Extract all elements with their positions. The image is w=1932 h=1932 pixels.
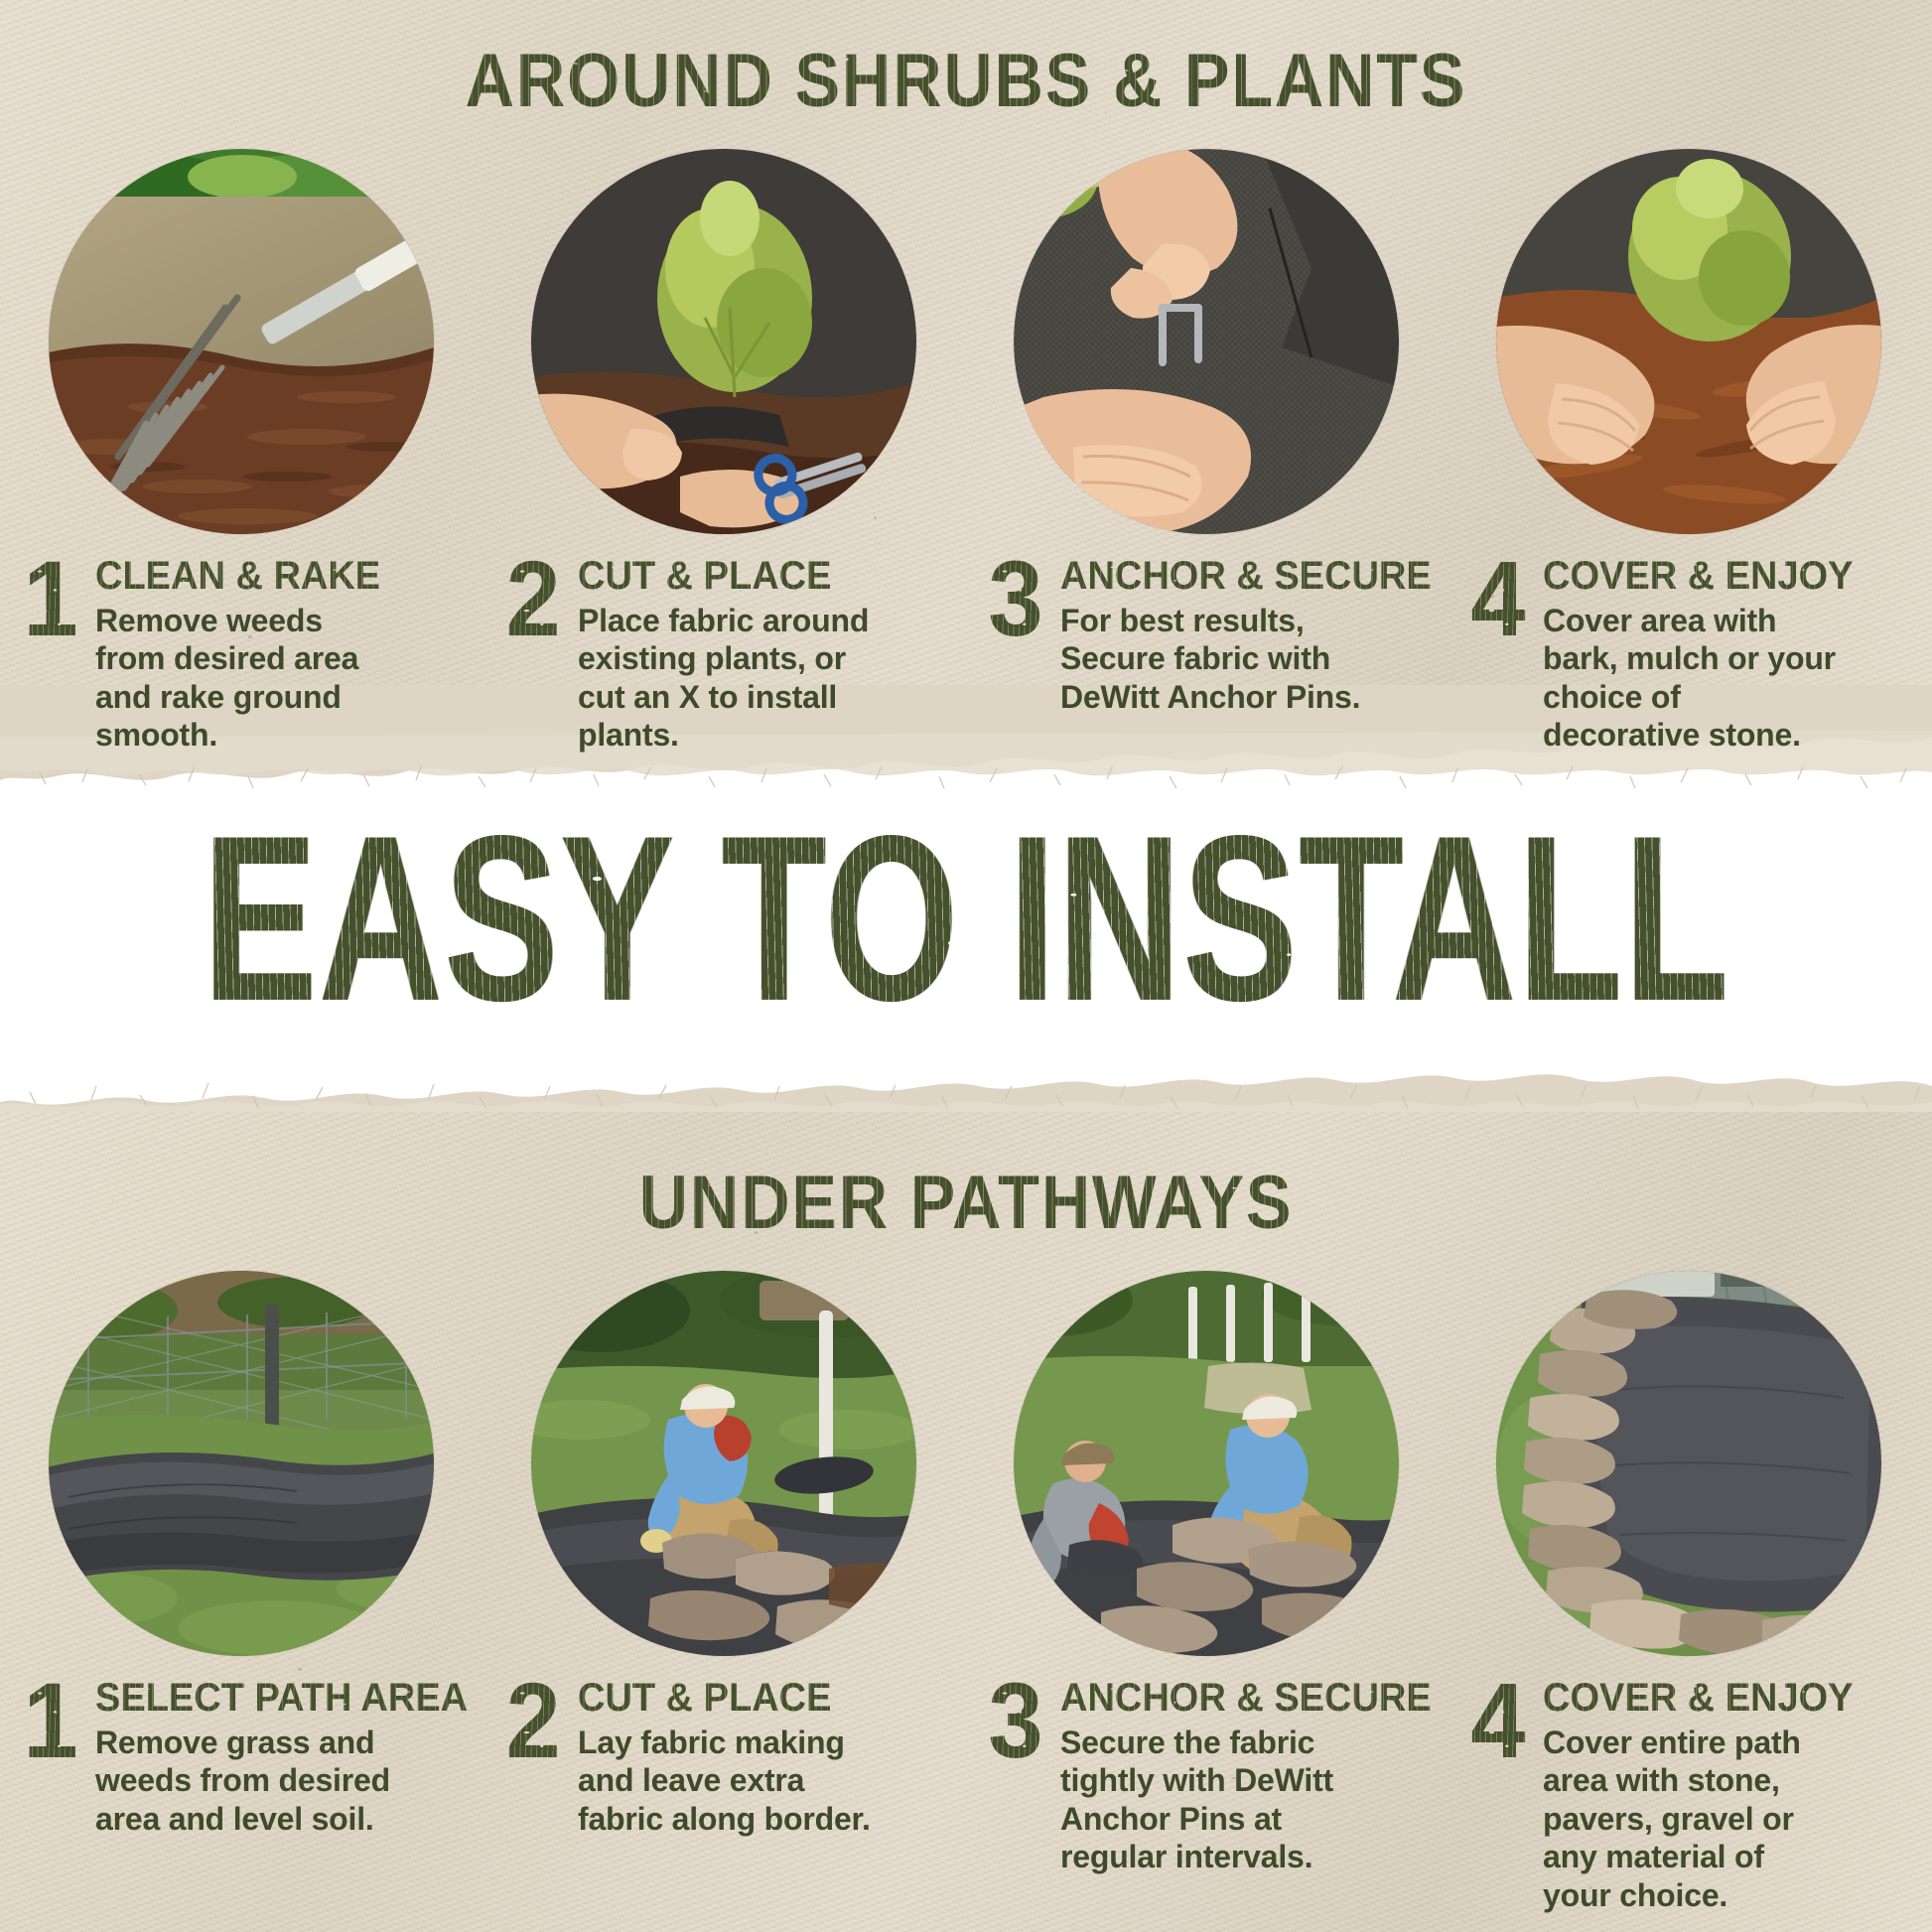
photo-cut-and-place[interactable]	[531, 149, 916, 534]
step-number: 3	[978, 1678, 1052, 1876]
step-number: 2	[495, 556, 570, 755]
photo-clean-and-rake[interactable]	[49, 149, 434, 534]
step-body: For best results, Secure fabric with DeW…	[1060, 602, 1388, 716]
step-card: 4 COVER & ENJOY Cover entire path area w…	[1448, 1271, 1930, 1914]
step-text: SELECT PATH AREA Remove grass and weeds …	[91, 1678, 487, 1838]
step-text: CLEAN & RAKE Remove weeds from desired a…	[91, 556, 469, 755]
step-card: 1 CLEAN & RAKE Remove weeds from desired…	[0, 149, 483, 755]
step-photo-wrap	[483, 149, 965, 534]
step-photo-wrap	[1448, 149, 1930, 534]
step-body: Cover entire path area with stone, paver…	[1543, 1724, 1841, 1914]
step-number: 3	[978, 556, 1052, 716]
step-heading: CLEAN & RAKE	[95, 556, 450, 596]
section-title-text: AROUND SHRUBS & PLANTS	[466, 38, 1467, 124]
step-number: 4	[1460, 1678, 1535, 1914]
step-photo-wrap	[0, 1271, 483, 1656]
step-photo-wrap	[483, 1271, 965, 1656]
steps-row-around-shrubs: 1 CLEAN & RAKE Remove weeds from desired…	[0, 149, 1932, 755]
photo-anchor-and-secure[interactable]	[1014, 149, 1399, 534]
step-heading: ANCHOR & SECURE	[1060, 1678, 1432, 1718]
step-caption: 1 SELECT PATH AREA Remove grass and weed…	[0, 1678, 483, 1838]
step-caption: 2 CUT & PLACE Lay fabric making and leav…	[483, 1678, 965, 1838]
step-caption: 3 ANCHOR & SECURE For best results, Secu…	[965, 556, 1448, 716]
step-heading: ANCHOR & SECURE	[1060, 556, 1432, 596]
step-photo-wrap	[965, 149, 1448, 534]
step-caption: 2 CUT & PLACE Place fabric around existi…	[483, 556, 965, 755]
step-card: 2 CUT & PLACE Place fabric around existi…	[483, 149, 965, 755]
section-title-text: UNDER PATHWAYS	[639, 1160, 1294, 1246]
step-text: COVER & ENJOY Cover area with bark, mulc…	[1539, 556, 1916, 755]
step-heading: CUT & PLACE	[578, 556, 932, 596]
step-body: Place fabric around existing plants, or …	[578, 602, 876, 755]
step-photo-wrap	[965, 1271, 1448, 1656]
step-photo-wrap	[1448, 1271, 1930, 1656]
section-title-under-pathways: UNDER PATHWAYS	[96, 1160, 1835, 1246]
step-body: Cover area with bark, mulch or your choi…	[1543, 602, 1841, 755]
step-card: 2 CUT & PLACE Lay fabric making and leav…	[483, 1271, 965, 1914]
step-heading: COVER & ENJOY	[1543, 1678, 1897, 1718]
step-number: 1	[13, 556, 87, 755]
step-card: 3 ANCHOR & SECURE For best results, Secu…	[965, 149, 1448, 755]
step-body: Secure the fabric tightly with DeWitt An…	[1060, 1724, 1388, 1876]
step-card: 1 SELECT PATH AREA Remove grass and weed…	[0, 1271, 483, 1914]
step-heading: SELECT PATH AREA	[95, 1678, 468, 1718]
step-photo-wrap	[0, 149, 483, 534]
step-heading: CUT & PLACE	[578, 1678, 932, 1718]
step-number: 1	[13, 1678, 87, 1838]
step-text: CUT & PLACE Place fabric around existing…	[574, 556, 951, 755]
steps-row-under-pathways: 1 SELECT PATH AREA Remove grass and weed…	[0, 1271, 1932, 1914]
section-title-around-shrubs: AROUND SHRUBS & PLANTS	[96, 38, 1835, 124]
step-card: 4 COVER & ENJOY Cover area with bark, mu…	[1448, 149, 1930, 755]
step-number: 2	[495, 1678, 570, 1838]
easy-to-install-banner: EASY TO INSTALL	[0, 794, 1932, 1042]
photo-path-anchor-and-secure[interactable]	[1014, 1271, 1399, 1656]
step-number: 4	[1460, 556, 1535, 755]
photo-cover-and-enjoy[interactable]	[1496, 149, 1881, 534]
banner-title: EASY TO INSTALL	[203, 810, 1729, 1027]
step-card: 3 ANCHOR & SECURE Secure the fabric tigh…	[965, 1271, 1448, 1914]
step-body: Remove grass and weeds from desired area…	[95, 1724, 393, 1838]
step-heading: COVER & ENJOY	[1543, 556, 1897, 596]
step-text: COVER & ENJOY Cover entire path area wit…	[1539, 1678, 1916, 1914]
step-caption: 4 COVER & ENJOY Cover area with bark, mu…	[1448, 556, 1930, 755]
step-text: ANCHOR & SECURE For best results, Secure…	[1056, 556, 1450, 716]
step-body: Remove weeds from desired area and rake …	[95, 602, 393, 755]
step-text: CUT & PLACE Lay fabric making and leave …	[574, 1678, 951, 1838]
step-body: Lay fabric making and leave extra fabric…	[578, 1724, 876, 1838]
step-caption: 1 CLEAN & RAKE Remove weeds from desired…	[0, 556, 483, 755]
step-caption: 3 ANCHOR & SECURE Secure the fabric tigh…	[965, 1678, 1448, 1876]
photo-path-cut-and-place[interactable]	[531, 1271, 916, 1656]
photo-path-cover-and-enjoy[interactable]	[1496, 1271, 1881, 1656]
step-text: ANCHOR & SECURE Secure the fabric tightl…	[1056, 1678, 1450, 1876]
photo-select-path-area[interactable]	[49, 1271, 434, 1656]
step-caption: 4 COVER & ENJOY Cover entire path area w…	[1448, 1678, 1930, 1914]
